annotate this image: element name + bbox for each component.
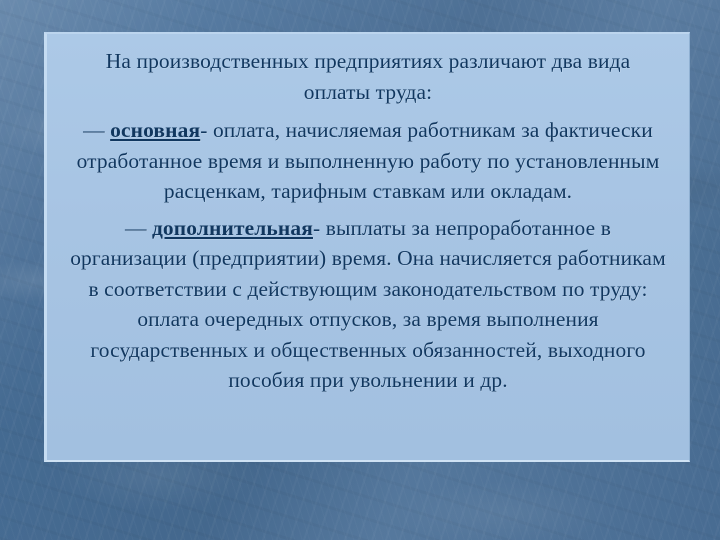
basic-pay-term: основная (110, 118, 200, 142)
basic-pay-dash: — (83, 118, 105, 142)
basic-pay-paragraph: — основная- оплата, начисляемая работник… (61, 115, 675, 207)
additional-pay-definition: - выплаты за непроработанное в организац… (70, 216, 666, 393)
intro-paragraph: На производственных предприятиях различа… (61, 46, 675, 107)
additional-pay-dash: — (125, 216, 147, 240)
additional-pay-term: дополнительная (152, 216, 313, 240)
slide: На производственных предприятиях различа… (0, 0, 720, 540)
additional-pay-paragraph: — дополнительная- выплаты за непроработа… (61, 213, 675, 396)
content-panel: На производственных предприятиях различа… (44, 32, 690, 462)
